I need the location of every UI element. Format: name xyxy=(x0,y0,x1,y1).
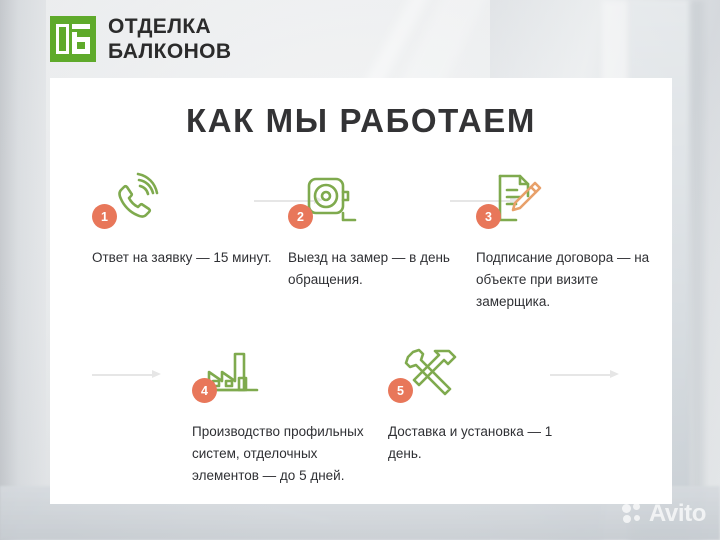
brand-header: ОТДЕЛКА БАЛКОНОВ xyxy=(50,16,231,62)
arrow-3-to-4 xyxy=(92,370,164,379)
step-5: 5 Доставка и установка — 1 день. xyxy=(388,344,574,465)
step-4-badge: 4 xyxy=(192,378,217,403)
ob-monogram-logo-icon xyxy=(50,16,96,62)
step-5-text: Доставка и установка — 1 день. xyxy=(388,421,574,465)
step-1-badge: 1 xyxy=(92,204,117,229)
step-4-icon-wrap: 4 xyxy=(192,344,378,406)
avito-dots-icon xyxy=(622,503,644,525)
step-2: 2 Выезд на замер — в день обращения. xyxy=(288,170,474,291)
step-3-text: Подписание договора — на объекте при виз… xyxy=(476,247,662,313)
step-2-text: Выезд на замер — в день обращения. xyxy=(288,247,474,291)
step-5-icon-wrap: 5 xyxy=(388,344,574,406)
step-1-icon-wrap: 1 xyxy=(92,170,278,232)
step-1: 1 Ответ на заявку — 15 минут. xyxy=(92,170,278,269)
avito-watermark: Avito xyxy=(622,502,706,526)
brand-wordmark: ОТДЕЛКА БАЛКОНОВ xyxy=(108,16,231,62)
step-3-icon-wrap: 3 xyxy=(476,170,662,232)
page-title: КАК МЫ РАБОТАЕМ xyxy=(50,102,672,140)
step-3-badge: 3 xyxy=(476,204,501,229)
process-card: КАК МЫ РАБОТАЕМ 1 Ответ на заявку — 1 xyxy=(50,78,672,504)
brand-line-2: БАЛКОНОВ xyxy=(108,41,231,62)
step-1-text: Ответ на заявку — 15 минут. xyxy=(92,247,278,269)
step-3: 3 Подписание договора — на объекте при в… xyxy=(476,170,662,313)
step-4: 4 Производство профильных систем, отдело… xyxy=(192,344,378,487)
step-2-icon-wrap: 2 xyxy=(288,170,474,232)
step-2-badge: 2 xyxy=(288,204,313,229)
arrow-5-end xyxy=(550,370,622,379)
step-4-text: Производство профильных систем, отделочн… xyxy=(192,421,378,487)
screenshot-stage: ОТДЕЛКА БАЛКОНОВ КАК МЫ РАБОТАЕМ xyxy=(0,0,720,540)
brand-line-1: ОТДЕЛКА xyxy=(108,16,231,37)
avito-wordmark: Avito xyxy=(649,502,706,526)
step-5-badge: 5 xyxy=(388,378,413,403)
